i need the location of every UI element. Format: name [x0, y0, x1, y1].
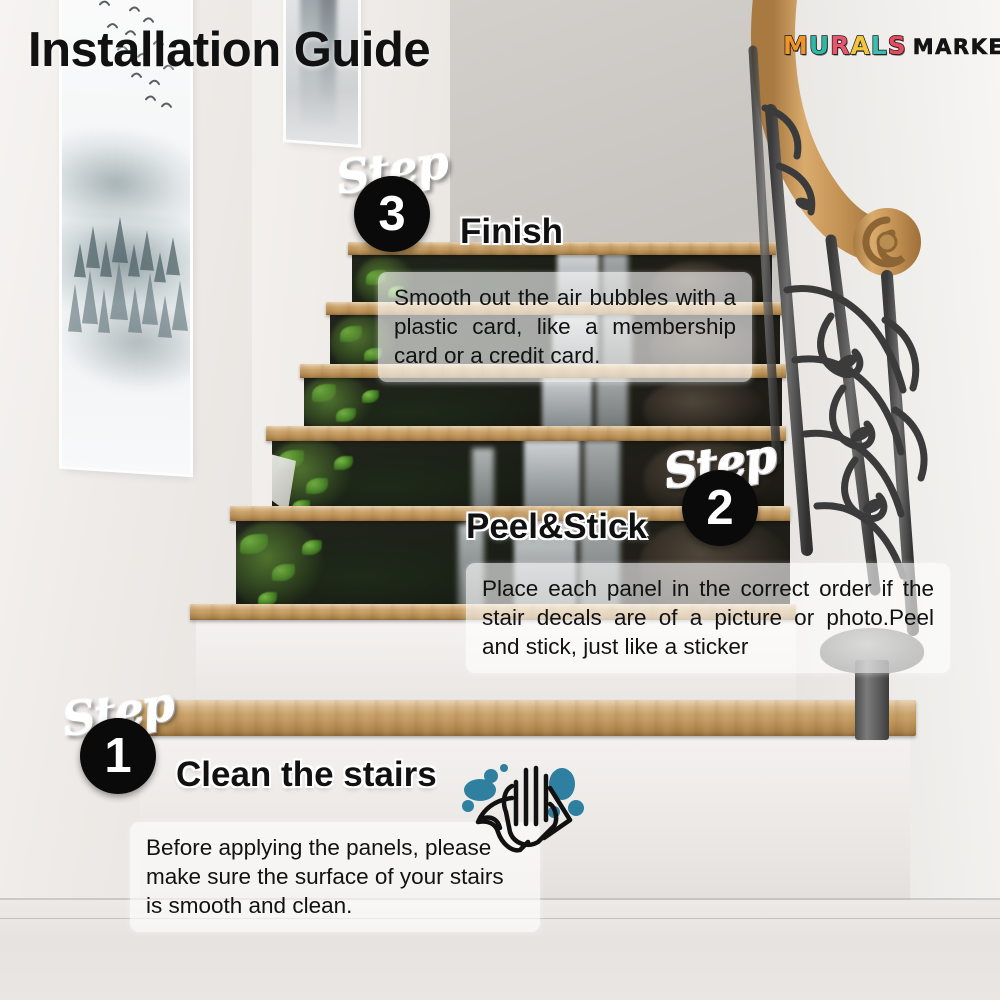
step-number-circle: 2: [682, 470, 758, 546]
step-title-2: Peel&Stick: [466, 507, 647, 547]
installation-guide-infographic: Installation Guide MURALS MARKET Step 3 …: [0, 0, 1000, 1000]
step-body-2: Place each panel in the correct order if…: [466, 563, 950, 673]
page-title: Installation Guide: [28, 22, 430, 78]
step-title-1: Clean the stairs: [176, 755, 437, 795]
hand-wiping-cloth-icon: [458, 746, 598, 861]
step-title-3: Finish: [460, 212, 563, 252]
step-number: 2: [706, 484, 733, 533]
step-number-circle: 1: [80, 718, 156, 794]
step-number: 1: [104, 732, 131, 781]
brand-word-market: MARKET: [913, 35, 1000, 59]
step-number: 3: [378, 190, 405, 239]
step-body-3: Smooth out the air bubbles with a plasti…: [378, 272, 752, 382]
brand-word-murals: MURALS: [783, 31, 907, 60]
brand-logo: MURALS MARKET: [783, 31, 1000, 60]
step-number-circle: 3: [354, 176, 430, 252]
step-badge-2: Step 2: [664, 434, 814, 544]
